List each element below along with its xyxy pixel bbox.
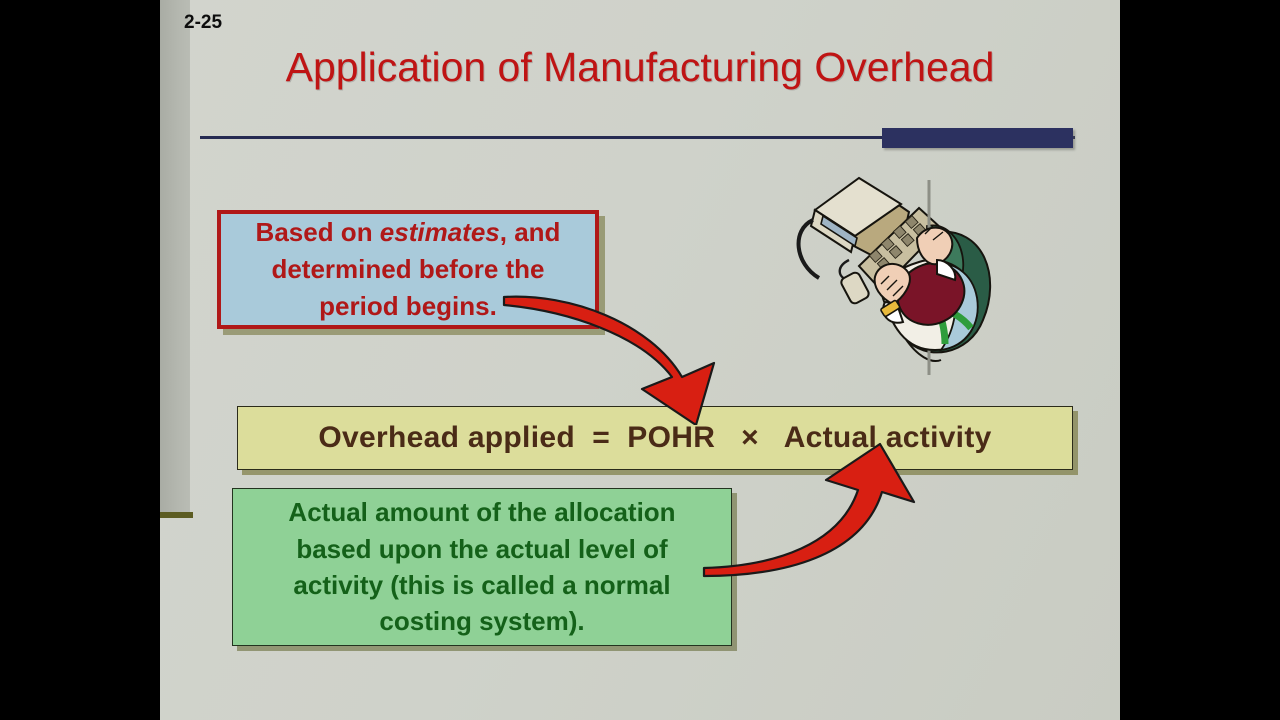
header-navy-accent-bar [882,128,1073,148]
presentation-slide: 2-25 Application of Manufacturing Overhe… [160,0,1120,720]
slide-left-band-rule [160,512,193,518]
letterbox-left [0,0,160,720]
letterbox-right [1120,0,1280,720]
estimates-callout-box: Based on estimates, and determined befor… [217,210,599,329]
overhead-formula-box: Overhead applied = POHR × Actual activit… [237,406,1073,470]
actual-activity-line2: based upon the actual level of [296,534,667,564]
estimates-line3: period begins. [319,291,497,321]
actual-activity-line1: Actual amount of the allocation [288,497,675,527]
estimates-line1-post: , and [500,217,561,247]
actual-activity-callout-box: Actual amount of the allocation based up… [232,488,732,646]
page-title: Application of Manufacturing Overhead [200,44,1080,91]
actual-activity-line3: activity (this is called a normal [293,570,670,600]
actual-activity-line4: costing system). [379,606,584,636]
estimates-line1-pre: Based on [256,217,380,247]
estimates-emphasis-word: estimates [380,217,500,247]
slide-number: 2-25 [184,12,222,34]
actual-activity-callout-text: Actual amount of the allocation based up… [282,494,681,640]
estimates-line2: determined before the [271,254,544,284]
screenshot-stage: 2-25 Application of Manufacturing Overhe… [0,0,1280,720]
slide-left-decorative-band [160,0,190,515]
overhead-formula-text: Overhead applied = POHR × Actual activit… [318,421,991,455]
estimates-callout-text: Based on estimates, and determined befor… [248,214,569,325]
person-at-computer-clipart [785,160,1020,390]
